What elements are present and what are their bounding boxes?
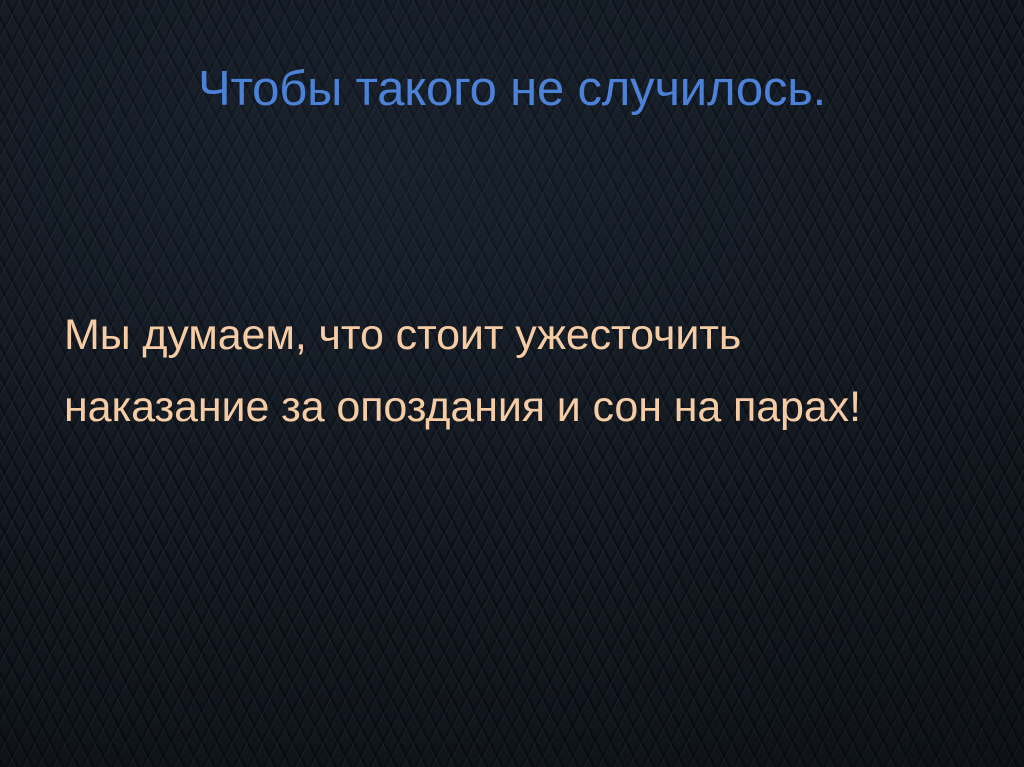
- slide-title-placeholder: Чтобы такого не случилось.: [0, 62, 1024, 117]
- presentation-slide: Чтобы такого не случилось. Мы думаем, чт…: [0, 0, 1024, 767]
- slide-body-placeholder: Мы думаем, что стоит ужесточить наказани…: [64, 299, 964, 443]
- slide-title: Чтобы такого не случилось.: [60, 62, 964, 117]
- body-line: Мы думаем, что стоит ужесточить: [64, 299, 964, 371]
- body-line: наказание за опоздания и сон на парах!: [64, 371, 964, 443]
- slide-content: Чтобы такого не случилось. Мы думаем, чт…: [0, 0, 1024, 767]
